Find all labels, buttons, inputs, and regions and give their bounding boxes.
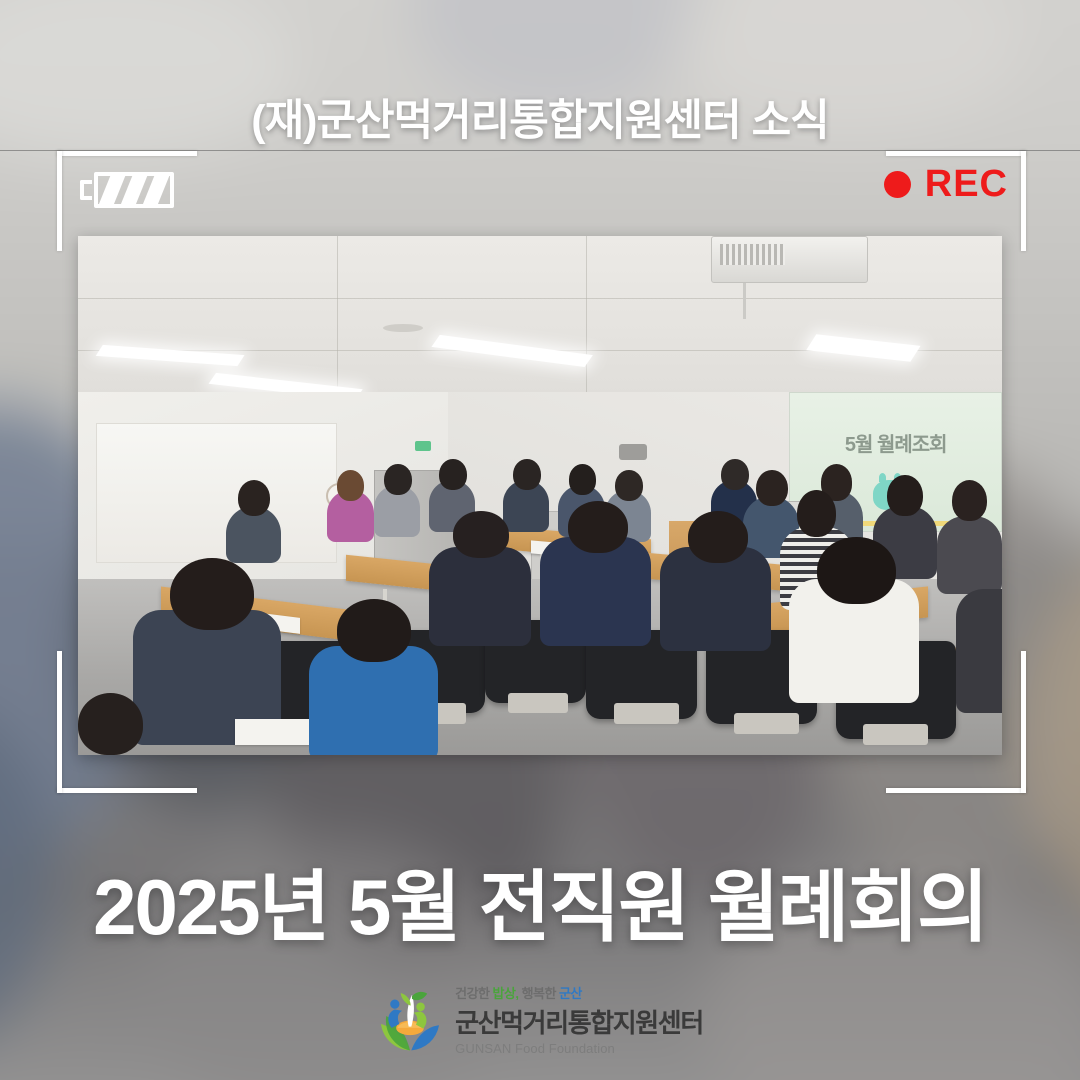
headline: 2025년 5월 전직원 월례회의 — [0, 845, 1080, 957]
record-dot-icon — [884, 171, 911, 198]
foundation-logo-icon — [377, 987, 443, 1053]
organization-logo: 건강한 밥상, 행복한 군산 군산먹거리통합지원센터 GUNSAN Food F… — [0, 983, 1080, 1056]
promo-card: (재)군산먹거리통합지원센터 소식 REC — [0, 0, 1080, 1080]
logo-tagline-4: 군산 — [559, 983, 582, 1002]
logo-organization-subtitle: GUNSAN Food Foundation — [455, 1041, 615, 1056]
battery-terminal — [80, 180, 92, 200]
projected-slide-title: 5월 월례조회 — [789, 428, 1002, 457]
logo-tagline: 건강한 밥상, 행복한 군산 — [455, 983, 582, 1002]
rec-label: REC — [925, 163, 1008, 206]
rec-indicator: REC — [884, 163, 1008, 206]
logo-tagline-3: 행복한 — [522, 983, 556, 1002]
logo-tagline-1: 건강한 — [455, 983, 489, 1002]
page-title: (재)군산먹거리통합지원센터 소식 — [0, 86, 1080, 148]
battery-charging-icon — [80, 172, 174, 208]
battery-body — [94, 172, 174, 208]
logo-tagline-2: 밥상, — [493, 983, 519, 1002]
logo-organization-name: 군산먹거리통합지원센터 — [455, 1003, 703, 1040]
meeting-room-photo: 5월 월례조회 — [78, 236, 1002, 755]
